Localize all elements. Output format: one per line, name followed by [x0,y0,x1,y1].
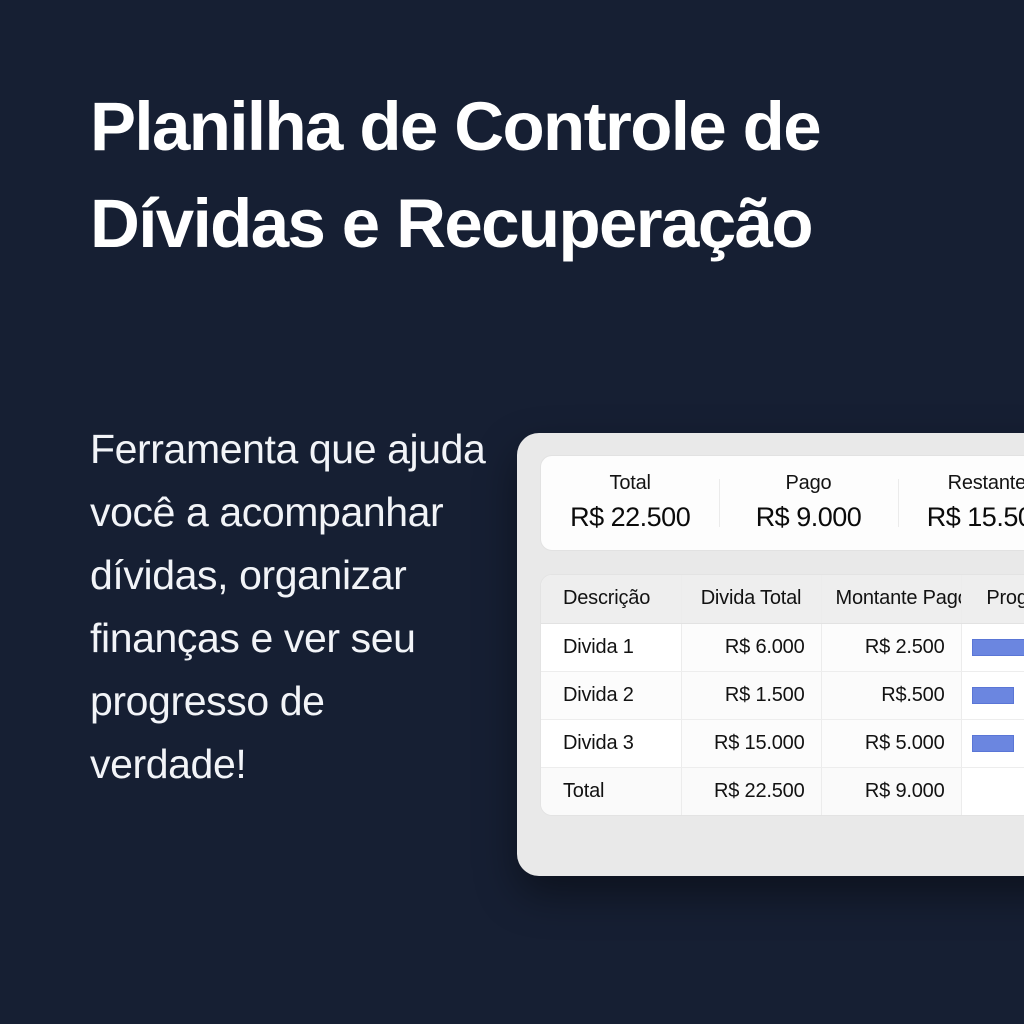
cell-divida-total: R$ 22.500 [681,767,821,815]
column-header-montante-pago: Montante Pago [821,575,961,623]
summary-stat-restante: Restante R$ 15.500 [898,470,1024,535]
summary-value: R$ 9.000 [725,499,891,535]
column-header-progresso: Progresso [961,575,1024,623]
cell-descricao: Divida 2 [541,671,681,719]
table-row: Divida 2 R$ 1.500 R$.500 [541,671,1024,719]
page-title: Planilha de Controle de Dívidas e Recupe… [90,78,900,272]
cell-descricao: Divida 1 [541,623,681,671]
summary-label: Restante [904,470,1024,497]
hero-copy: Planilha de Controle de Dívidas e Recupe… [90,78,920,272]
table-header-row: Descrição Divida Total Montante Pago Pro… [541,575,1024,623]
summary-strip: Total R$ 22.500 Pago R$ 9.000 Restante R… [540,455,1024,551]
cell-divida-total: R$ 6.000 [681,623,821,671]
cell-progresso [961,623,1024,671]
cell-divida-total: R$ 1.500 [681,671,821,719]
hero-subcopy: Ferramenta que ajuda você a acompanhar d… [90,418,490,796]
table-body: Divida 1 R$ 6.000 R$ 2.500 Divida 2 R$ 1… [541,623,1024,815]
summary-label: Pago [725,470,891,497]
progress-bar [972,735,1015,752]
debt-table: Descrição Divida Total Montante Pago Pro… [541,575,1024,815]
progress-bar [972,687,1015,704]
progress-track [972,672,1024,719]
spreadsheet-panel: Total R$ 22.500 Pago R$ 9.000 Restante R… [517,433,1024,876]
poster-canvas: Planilha de Controle de Dívidas e Recupe… [0,0,1024,1024]
debt-table-card: Descrição Divida Total Montante Pago Pro… [540,574,1024,816]
cell-progresso [961,719,1024,767]
summary-stat-pago: Pago R$ 9.000 [719,470,897,535]
summary-value: R$ 22.500 [547,499,713,535]
progress-track [972,768,1024,816]
cell-montante-pago: R$.500 [821,671,961,719]
table-row-total: Total R$ 22.500 R$ 9.000 [541,767,1024,815]
cell-descricao: Divida 3 [541,719,681,767]
summary-label: Total [547,470,713,497]
cell-progresso [961,767,1024,815]
summary-stat-total: Total R$ 22.500 [541,470,719,535]
cell-divida-total: R$ 15.000 [681,719,821,767]
column-header-descricao: Descrição [541,575,681,623]
summary-value: R$ 15.500 [904,499,1024,535]
table-header: Descrição Divida Total Montante Pago Pro… [541,575,1024,623]
progress-track [972,624,1024,671]
cell-montante-pago: R$ 2.500 [821,623,961,671]
cell-montante-pago: R$ 9.000 [821,767,961,815]
table-row: Divida 3 R$ 15.000 R$ 5.000 [541,719,1024,767]
column-header-divida-total: Divida Total [681,575,821,623]
cell-descricao: Total [541,767,681,815]
cell-montante-pago: R$ 5.000 [821,719,961,767]
progress-track [972,720,1024,767]
table-row: Divida 1 R$ 6.000 R$ 2.500 [541,623,1024,671]
cell-progresso [961,671,1024,719]
progress-bar [972,639,1024,656]
